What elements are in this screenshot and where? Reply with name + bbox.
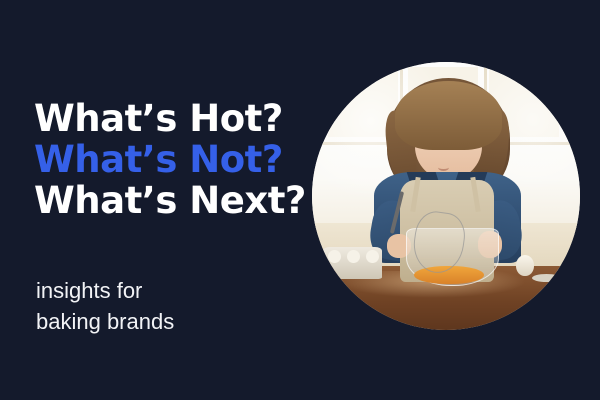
girl-hair-front	[395, 81, 502, 151]
headline-line-1: What’s Hot?	[34, 98, 306, 139]
subtitle: insights for baking brands	[36, 275, 174, 337]
headline-line-3: What’s Next?	[34, 180, 306, 221]
promo-slide: What’s Hot? What’s Not? What’s Next? ins…	[0, 0, 600, 400]
headline: What’s Hot? What’s Not? What’s Next?	[34, 98, 306, 221]
girl-mouth	[438, 164, 449, 171]
subtitle-line-1: insights for	[36, 275, 174, 306]
circular-photo	[312, 62, 580, 330]
subtitle-line-2: baking brands	[36, 306, 174, 337]
spoon	[532, 274, 561, 282]
egg	[366, 250, 379, 263]
photo-scene	[312, 62, 580, 330]
headline-line-2: What’s Not?	[34, 139, 306, 180]
egg	[347, 250, 360, 263]
